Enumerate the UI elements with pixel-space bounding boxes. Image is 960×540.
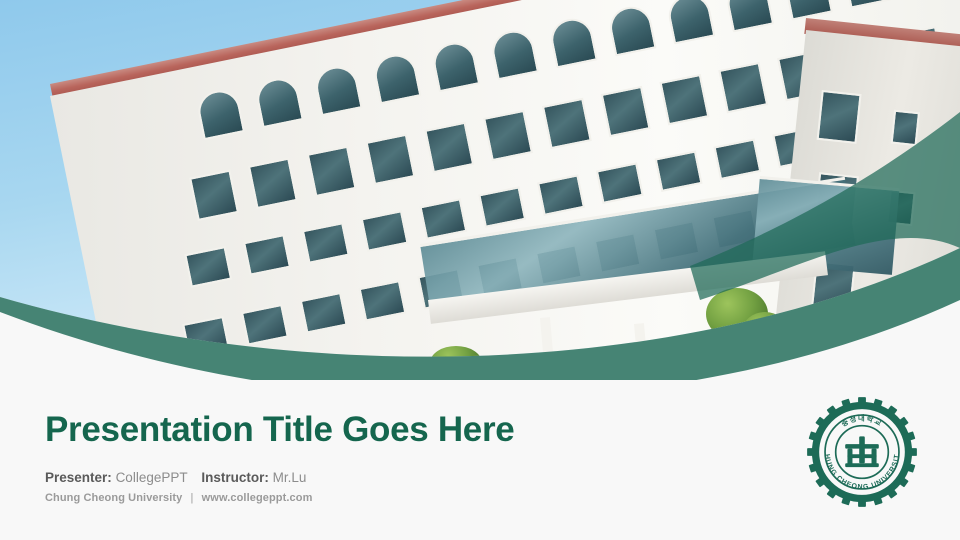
instructor-value: Mr.Lu [273,470,307,485]
window [312,63,362,116]
page-title: Presentation Title Goes Here [45,410,514,450]
window [724,0,774,33]
window [359,280,407,322]
window [424,122,474,173]
window [478,186,526,228]
window [241,304,289,346]
window [817,90,862,144]
window [366,134,416,185]
window [371,51,421,104]
hero-banner [0,0,960,380]
footer-line: Chung Cheong University | www.collegeppt… [45,492,312,504]
window [307,146,357,197]
window [548,15,598,68]
window [489,27,539,80]
window [184,246,232,288]
window [419,198,467,240]
window [254,75,304,128]
window [195,87,245,140]
window [302,222,350,264]
window [596,162,644,204]
presenter-label: Presenter: [45,470,112,485]
facade-pier [726,327,741,380]
website-link[interactable]: www.collegeppt.com [202,492,313,504]
organization-name: Chung Cheong University [45,492,182,504]
campus-photo [0,0,960,380]
window [655,150,703,192]
window [601,86,651,137]
seal-center-emblem [845,436,879,467]
window [606,3,656,56]
window [243,234,291,276]
window [542,98,592,149]
instructor-label: Instructor: [201,470,269,485]
window [665,0,715,45]
byline: Presenter: CollegePPT Instructor: Mr.Lu [45,470,306,485]
university-logo: CHUNG CHEONG UNIVERSITY 충청대학교 [806,396,918,508]
window [718,62,768,113]
window [248,158,298,209]
presentation-slide: Presentation Title Goes Here Presenter: … [0,0,960,540]
presenter-value: CollegePPT [116,470,188,485]
shrub [742,312,788,352]
window [713,138,761,180]
university-seal-icon: CHUNG CHEONG UNIVERSITY 충청대학교 [806,396,918,508]
window [361,210,409,252]
shrub [430,346,482,380]
window [537,174,585,216]
window [659,74,709,125]
window [300,292,348,334]
window [189,170,239,221]
window [841,0,891,9]
footer-separator: | [186,492,199,504]
window [182,316,230,358]
window [891,110,920,147]
window [430,39,480,92]
window [483,110,533,161]
